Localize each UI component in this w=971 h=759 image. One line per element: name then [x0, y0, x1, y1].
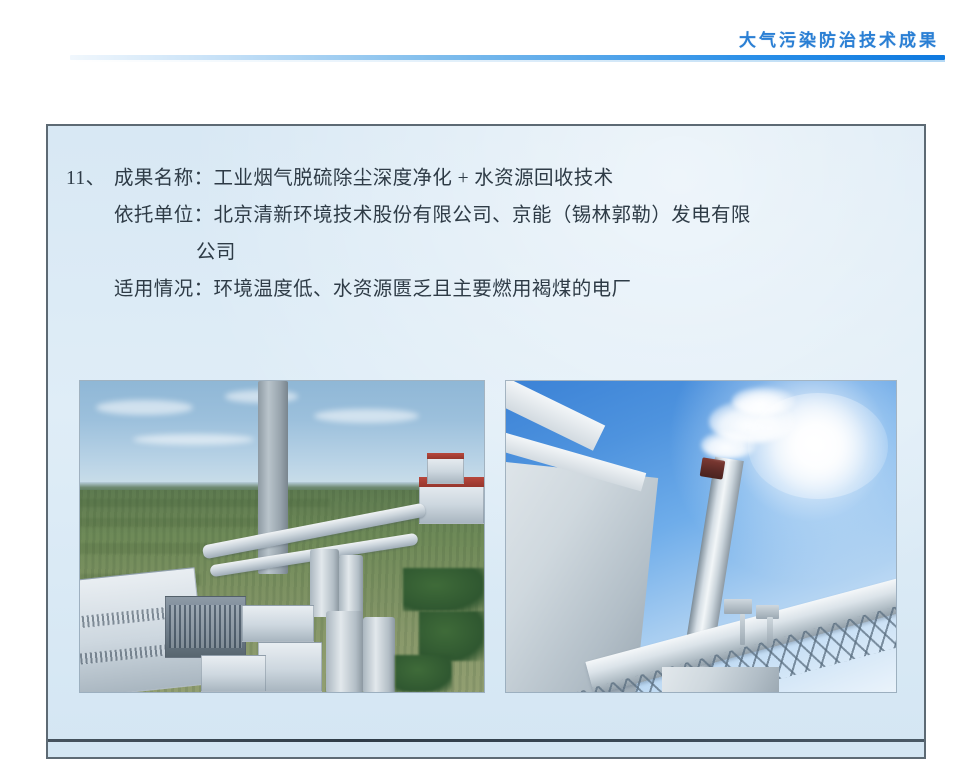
photo-building	[258, 642, 323, 692]
header-accent-rule	[70, 55, 945, 60]
photo-steam-plume	[701, 431, 756, 459]
achievement-text-block: 11、 成果名称： 工业烟气脱硫除尘深度净化 + 水资源回收技术 依托单位： 北…	[62, 160, 912, 308]
achievement-name-value: 工业烟气脱硫除尘深度净化 + 水资源回收技术	[214, 160, 614, 197]
photo-cloud	[133, 434, 254, 445]
photo-building-base	[662, 667, 779, 693]
slide-inner-divider	[47, 739, 926, 742]
power-plant-aerial-photo	[79, 380, 485, 693]
photo-field-band	[80, 518, 274, 527]
photo-cloud	[314, 409, 419, 423]
photo-building	[242, 605, 315, 642]
running-header: 大气污染防治技术成果	[0, 0, 971, 72]
applicable-conditions-label: 适用情况：	[114, 271, 214, 308]
supporting-unit-continuation-row: 公司	[62, 234, 912, 271]
photo-absorber-tower	[326, 611, 362, 692]
supporting-unit-row: 依托单位： 北京清新环境技术股份有限公司、京能（锡林郭勒）发电有限	[62, 197, 912, 234]
photo-building	[427, 456, 463, 484]
photo-building	[201, 655, 266, 692]
photo-chimney-top	[700, 457, 726, 479]
header-title: 大气污染防治技术成果	[739, 26, 939, 51]
supporting-unit-continuation-value: 公司	[62, 234, 236, 271]
item-number: 11、	[62, 160, 114, 197]
photo-cloud	[96, 400, 193, 416]
slide-content-box: 11、 成果名称： 工业烟气脱硫除尘深度净化 + 水资源回收技术 依托单位： 北…	[46, 124, 926, 759]
applicable-conditions-value: 环境温度低、水资源匮乏且主要燃用褐煤的电厂	[214, 271, 632, 308]
photo-steam-plume	[732, 387, 794, 415]
photo-greenery	[403, 568, 484, 612]
supporting-unit-value: 北京清新环境技术股份有限公司、京能（锡林郭勒）发电有限	[214, 197, 751, 234]
photo-building	[419, 481, 484, 525]
photo-field-band	[80, 499, 330, 507]
photo-absorber-tower	[310, 549, 338, 617]
photo-window-strip	[169, 605, 242, 649]
supporting-unit-label: 依托单位：	[114, 197, 214, 234]
photo-lamp-pole	[740, 614, 745, 645]
photo-greenery	[419, 611, 484, 661]
photo-lamp-pole	[767, 617, 772, 645]
photo-absorber-tower	[339, 555, 363, 617]
applicable-conditions-row: 适用情况： 环境温度低、水资源匮乏且主要燃用褐煤的电厂	[62, 271, 912, 308]
photo-greenery	[395, 655, 452, 692]
achievement-name-row: 11、 成果名称： 工业烟气脱硫除尘深度净化 + 水资源回收技术	[62, 160, 912, 197]
chimney-plume-photo	[505, 380, 897, 693]
photo-row	[79, 380, 897, 693]
achievement-name-label: 成果名称：	[114, 160, 214, 197]
photo-absorber-tower	[363, 617, 395, 692]
photo-red-roof	[427, 453, 463, 460]
photo-lamp-mast	[724, 599, 751, 615]
